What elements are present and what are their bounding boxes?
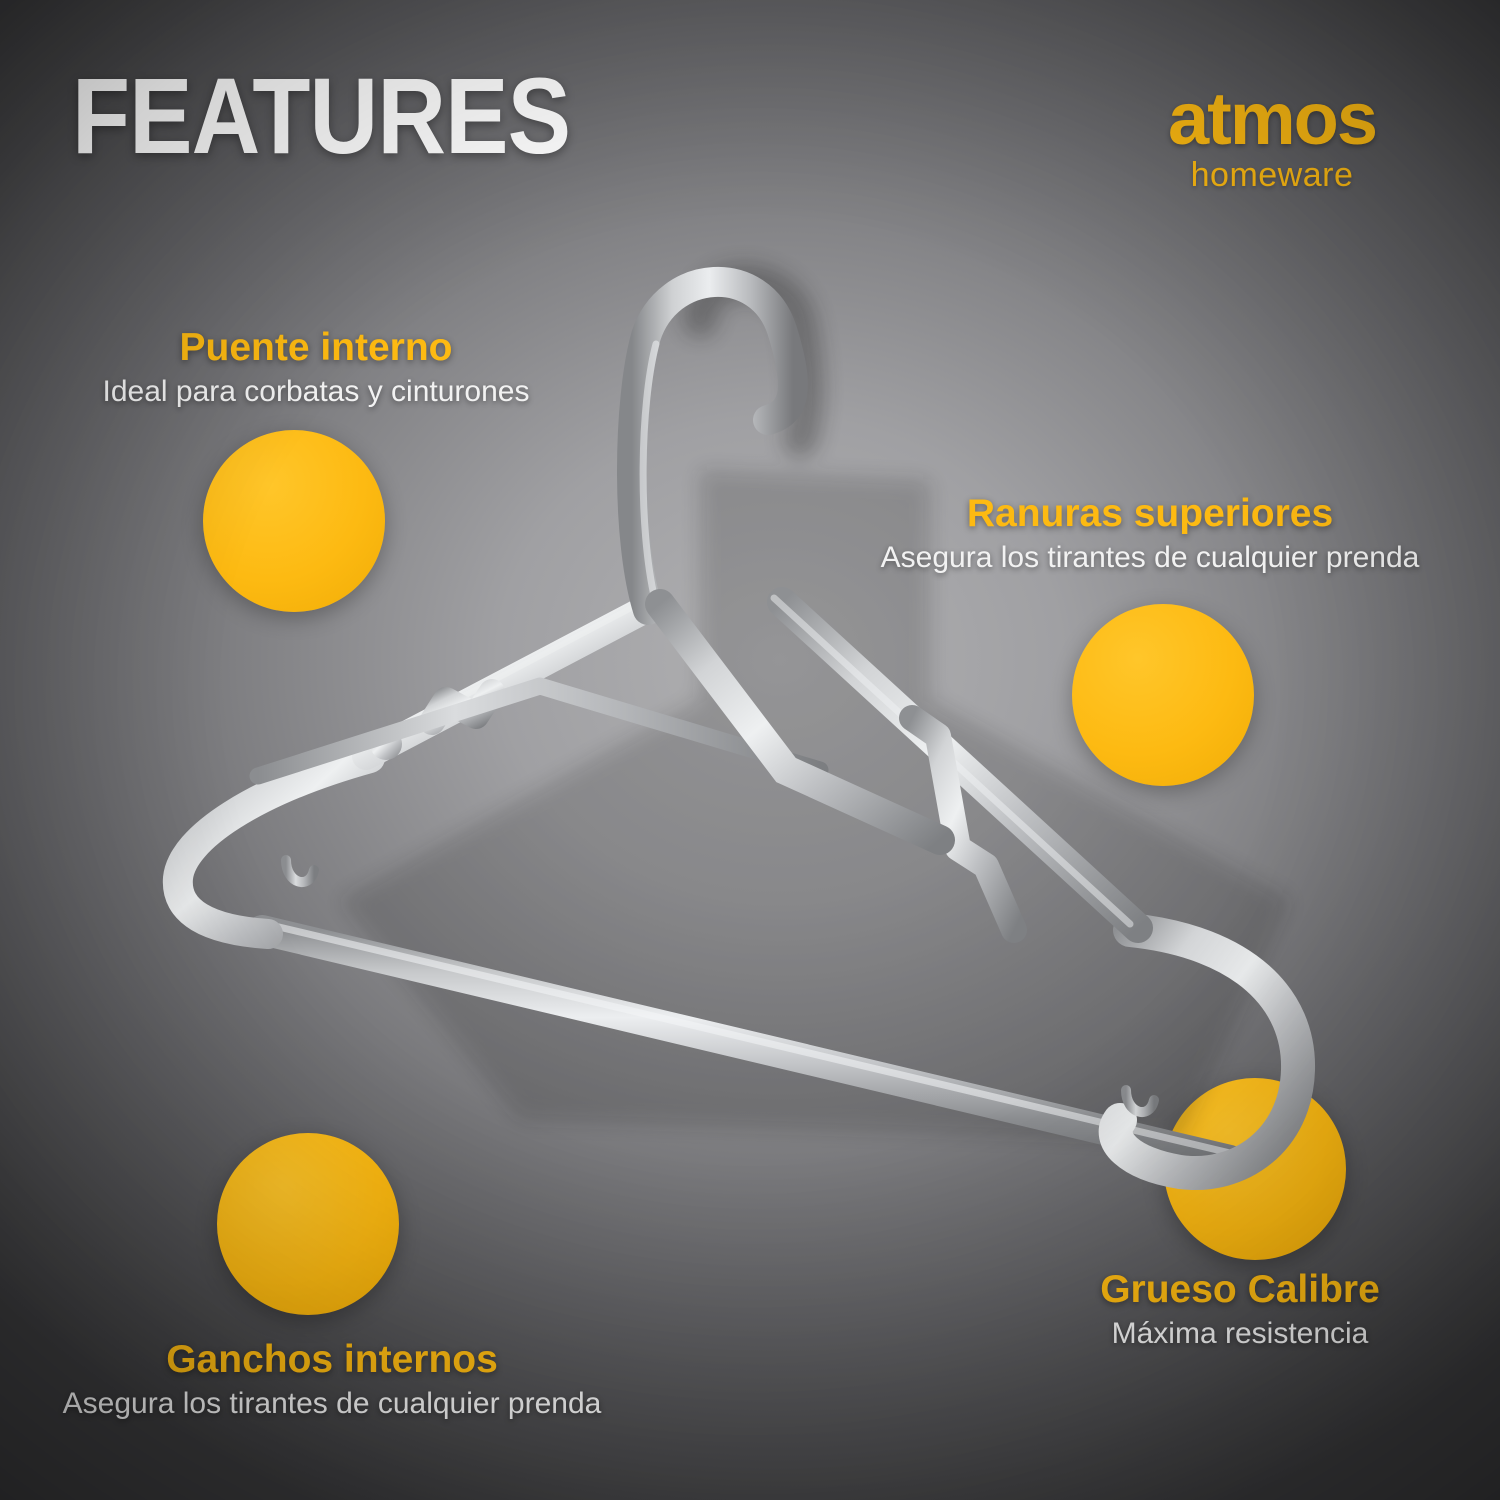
hanger-left-notch	[370, 692, 492, 760]
callout-title: Puente interno	[46, 326, 586, 370]
hanger-bottom-bar	[262, 923, 1230, 1160]
callout-title: Ganchos internos	[22, 1338, 642, 1382]
callout-title: Ranuras superiores	[860, 492, 1440, 536]
callout-subtitle: Asegura los tirantes de cualquier prenda	[22, 1386, 642, 1422]
callout-ganchos-internos: Ganchos internos Asegura los tirantes de…	[22, 1338, 642, 1422]
hanger-right-shoulder	[774, 598, 1138, 928]
highlight-circle-puente-interno	[203, 430, 385, 612]
brand-tagline: homeware	[1132, 158, 1412, 192]
highlight-circle-ranuras-superiores	[1072, 604, 1254, 786]
callout-ranuras-superiores: Ranuras superiores Asegura los tirantes …	[860, 492, 1440, 576]
hanger-internal-hook-left	[286, 790, 314, 900]
page-title: FEATURES	[72, 62, 570, 170]
hanger-right-notch	[912, 718, 1014, 930]
callout-subtitle: Ideal para corbatas y cinturones	[46, 374, 586, 410]
highlight-circle-grueso-calibre	[1164, 1078, 1346, 1260]
callout-puente-interno: Puente interno Ideal para corbatas y cin…	[46, 326, 586, 410]
hanger-left-shoulder	[363, 605, 640, 756]
hanger-internal-bridge	[258, 686, 820, 776]
hanger-left-end	[178, 758, 370, 934]
hanger-internal-hook-right	[1126, 1020, 1154, 1122]
callout-grueso-calibre: Grueso Calibre Máxima resistencia	[1040, 1268, 1440, 1352]
callout-subtitle: Asegura los tirantes de cualquier prenda	[860, 540, 1440, 576]
callout-title: Grueso Calibre	[1040, 1268, 1440, 1312]
brand-logo: atmos homeware	[1132, 84, 1412, 192]
feature-infographic: FEATURES atmos homeware Puente interno I…	[0, 0, 1500, 1500]
brand-name: atmos	[1132, 84, 1412, 154]
callout-subtitle: Máxima resistencia	[1040, 1316, 1440, 1352]
highlight-circle-ganchos-internos	[217, 1133, 399, 1315]
